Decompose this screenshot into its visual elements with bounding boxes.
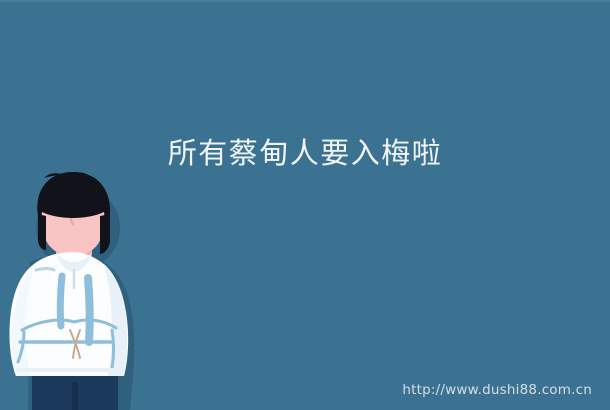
person-illustration-svg [0,170,150,410]
hair-sideburn-left [38,214,46,250]
drawstring-left [60,276,62,326]
pants-center-seam [72,382,78,410]
drawstring-right [88,278,90,342]
pocket-opening-right [112,330,114,368]
headline-text: 所有蔡甸人要入梅啦 [0,134,610,172]
cover-image-canvas: 所有蔡甸人要入梅啦 http://www.dushi88.com.cn [0,0,610,410]
person-illustration [0,170,150,410]
top-edge-band [0,0,610,2]
shoulder-seam-left [36,269,54,271]
watermark-url: http://www.dushi88.com.cn [402,382,592,398]
